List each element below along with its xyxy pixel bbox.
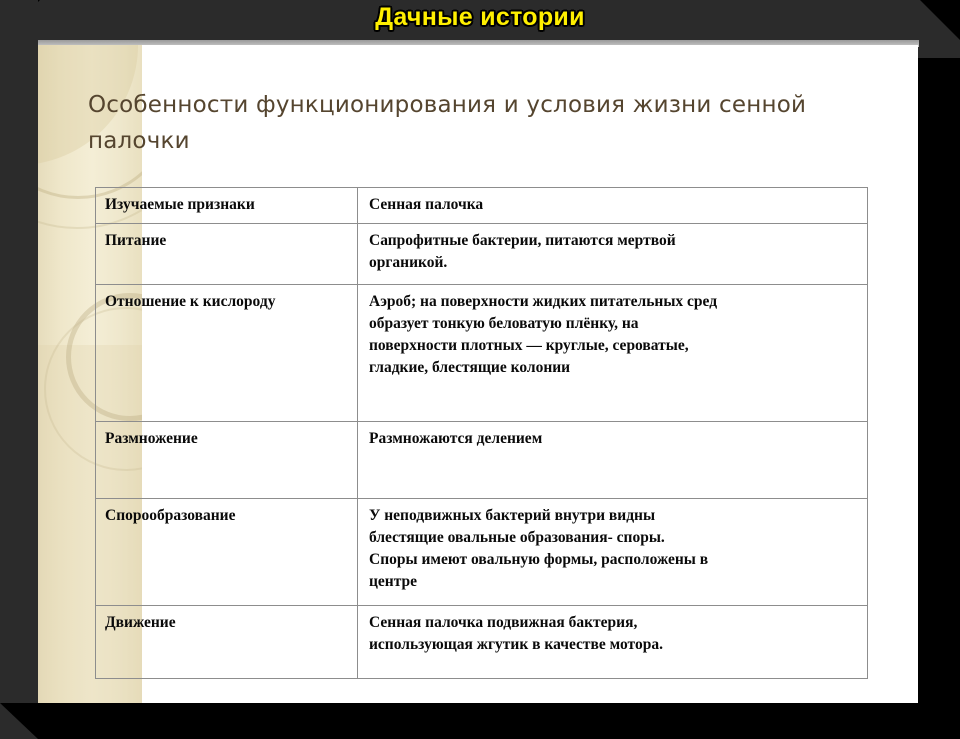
table-row: Спорообразование У неподвижных бактерий … (96, 499, 868, 606)
table-cell-feature: Питание (96, 224, 358, 285)
table-row: ДвижениеСенная палочка подвижная бактери… (96, 606, 868, 679)
table-header-row: Изучаемые признакиСенная палочка (96, 188, 868, 224)
table-header-cell-feature: Изучаемые признаки (96, 188, 358, 224)
table-row: ПитаниеСапрофитные бактерии, питаются ме… (96, 224, 868, 285)
table-cell-description: Сенная палочка подвижная бактерия, испол… (358, 606, 868, 679)
table-header-cell-organism: Сенная палочка (358, 188, 868, 224)
slide-title: Особенности функционирования и условия ж… (88, 87, 888, 159)
table-row: Отношение к кислородуАэроб; на поверхнос… (96, 285, 868, 422)
table-row: РазмножениеРазмножаются делением (96, 422, 868, 499)
table-body: Изучаемые признакиСенная палочкаПитаниеС… (96, 188, 868, 679)
table-cell-feature: Движение (96, 606, 358, 679)
table-cell-description: Размножаются делением (358, 422, 868, 499)
frame-corner-cut-right (920, 0, 960, 40)
frame-left-rail (0, 0, 38, 739)
table-cell-feature: Размножение (96, 422, 358, 499)
table-cell-description: Аэроб; на поверхности жидких питательных… (358, 285, 868, 422)
table-cell-feature: Спорообразование (96, 499, 358, 606)
characteristics-table: Изучаемые признакиСенная палочкаПитаниеС… (95, 187, 868, 679)
slide-viewer: Дачные истории Особенности функционирова… (0, 0, 960, 739)
table-cell-description: У неподвижных бактерий внутри видны блес… (358, 499, 868, 606)
table-cell-description: Сапрофитные бактерии, питаются мертвой о… (358, 224, 868, 285)
frame-corner-cut-bottom-left (0, 703, 38, 739)
presentation-slide: Особенности функционирования и условия ж… (38, 45, 918, 703)
table-cell-feature: Отношение к кислороду (96, 285, 358, 422)
